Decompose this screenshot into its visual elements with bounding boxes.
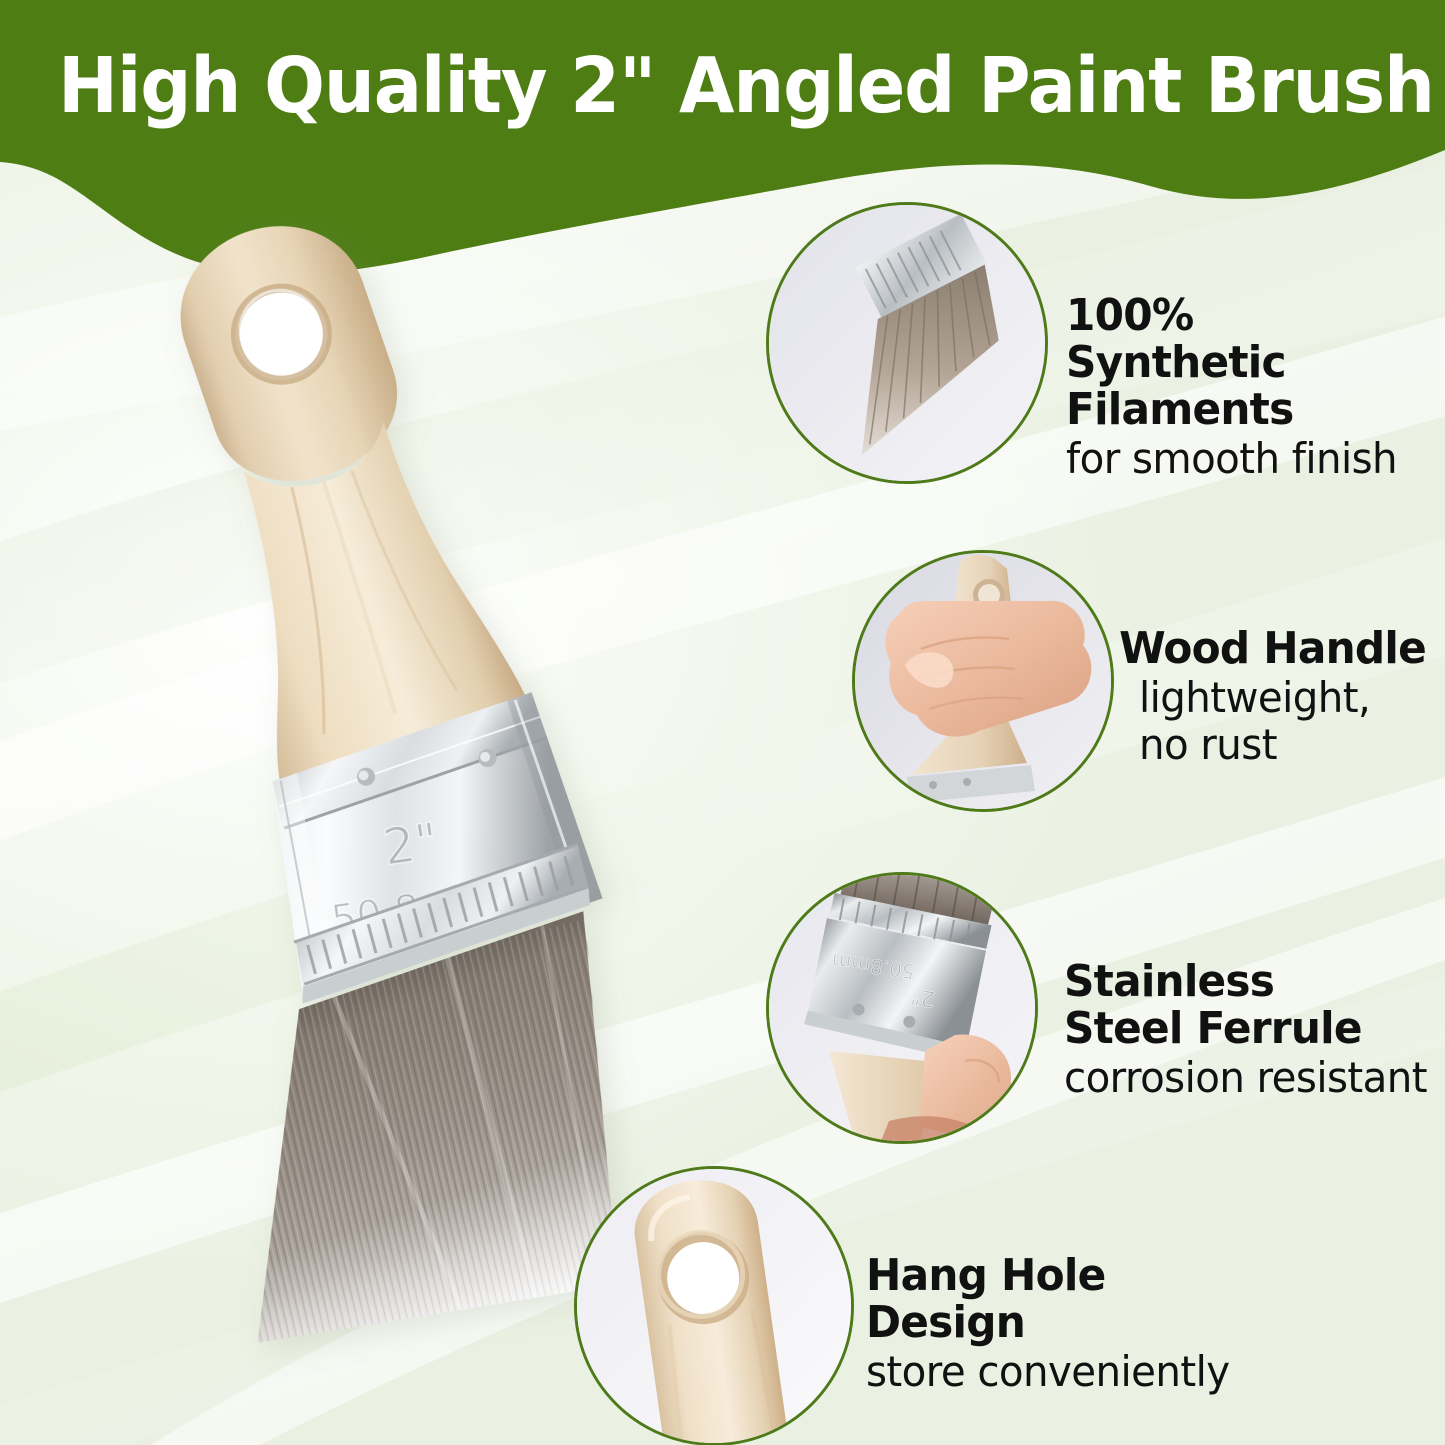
feature-subtitle-synthetic-filaments: for smooth finish [1066,435,1412,482]
feature-subtitle-wood-handle: lightweight, no rust [1139,674,1415,768]
feature-title-synthetic-filaments: 100% Synthetic Filaments [1066,292,1412,433]
feature-image-stainless-steel-ferrule: 2" 50.8mm [766,872,1038,1144]
feature-text-synthetic-filaments: 100% Synthetic Filaments for smooth fini… [1066,292,1426,482]
feature-text-wood-handle: Wood Handle lightweight, no rust [1036,625,1426,768]
feature-text-stainless-steel-ferrule: Stainless Steel Ferrule corrosion resist… [1064,958,1444,1101]
feature-image-synthetic-filaments [766,202,1048,484]
feature-title-stainless-steel-ferrule: Stainless Steel Ferrule [1064,958,1429,1052]
feature-image-hang-hole-design [574,1166,854,1445]
feature-title-wood-handle: Wood Handle [1052,625,1426,672]
infographic-page: High Quality 2" Angled Paint Brush [0,0,1445,1445]
feature-subtitle-stainless-steel-ferrule: corrosion resistant [1064,1054,1429,1101]
feature-title-hang-hole-design: Hang Hole Design [866,1252,1250,1346]
svg-text:2": 2" [379,812,441,877]
feature-text-hang-hole-design: Hang Hole Design store conveniently [866,1252,1266,1395]
svg-text:2": 2" [909,983,936,1011]
feature-subtitle-hang-hole-design: store conveniently [866,1348,1250,1395]
